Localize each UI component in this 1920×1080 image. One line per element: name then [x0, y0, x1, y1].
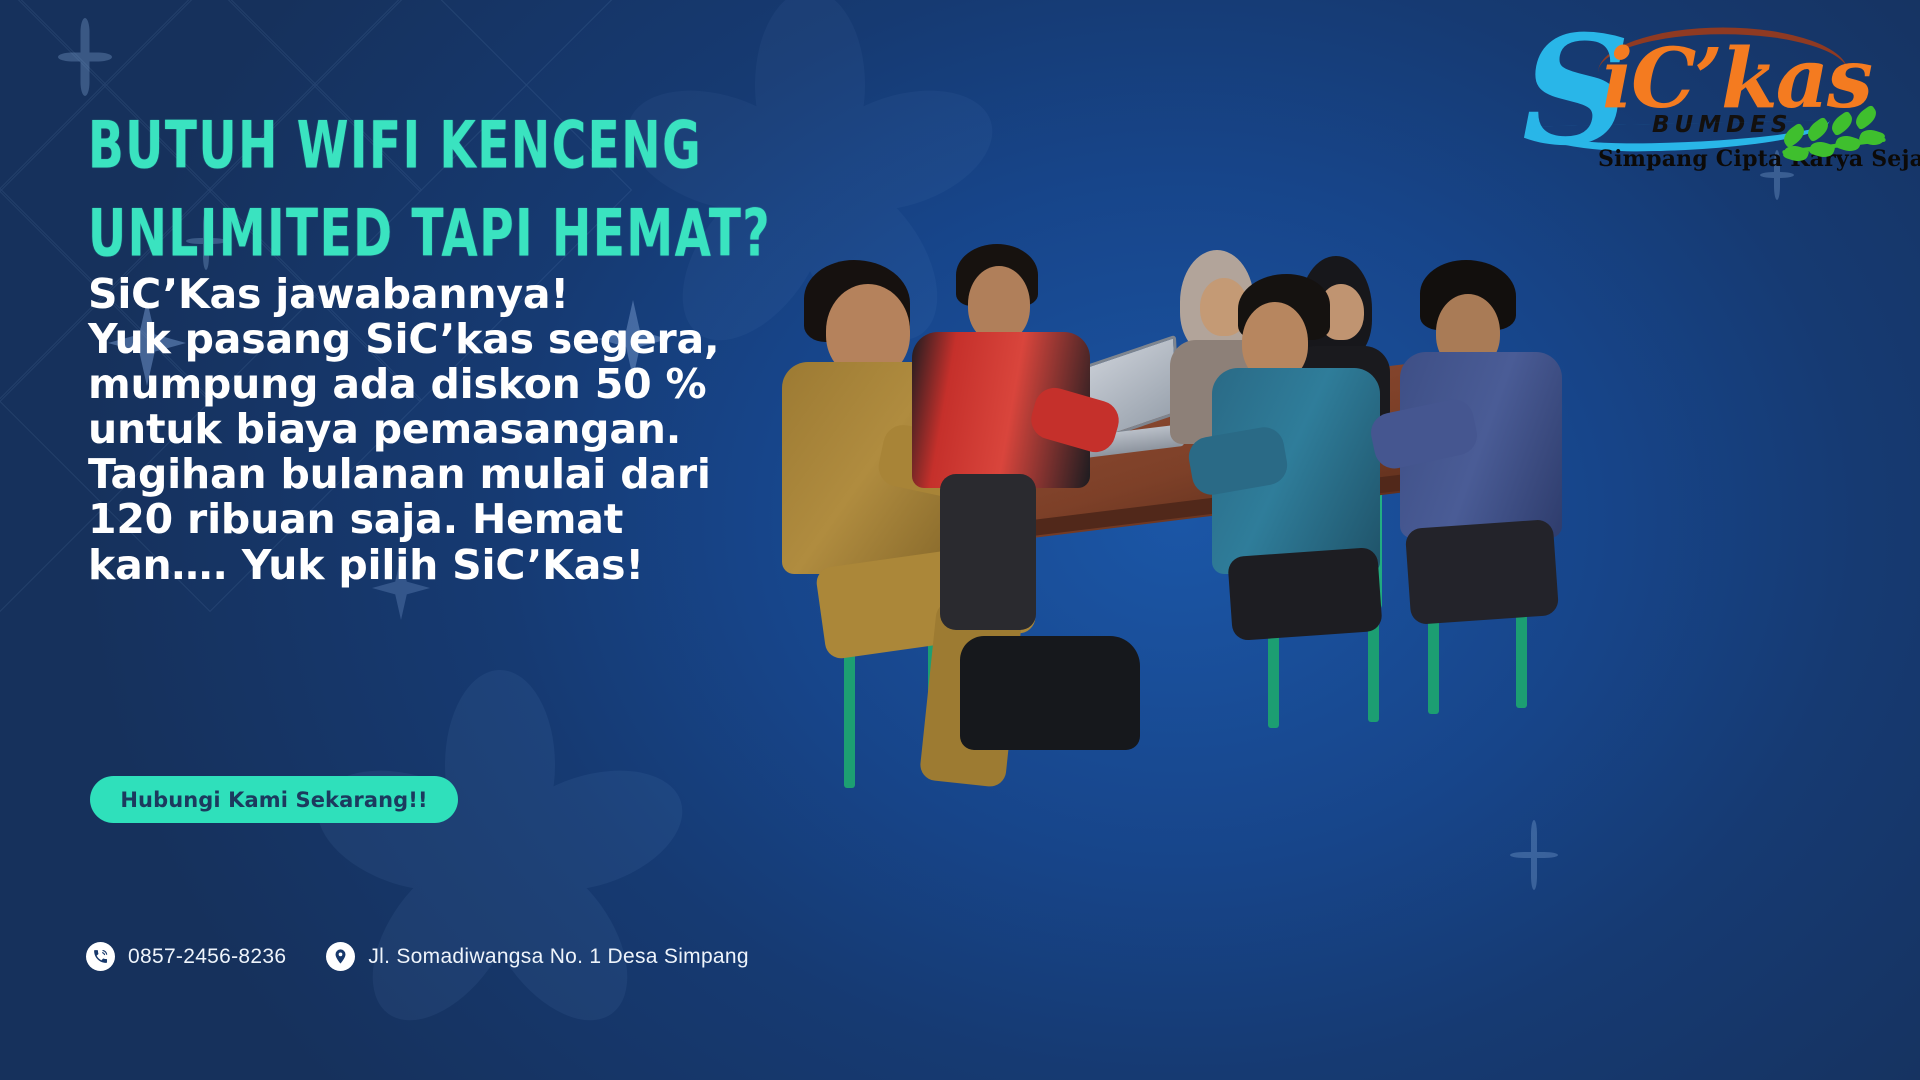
phone-number: 0857-2456-8236 — [128, 945, 286, 969]
person — [1227, 547, 1382, 641]
brand-logo[interactable]: S iC’kas BUMDES Simpang Cipta Karya Seja… — [1524, 16, 1884, 186]
chair — [1516, 602, 1527, 708]
contact-phone[interactable]: 0857-2456-8236 — [86, 942, 286, 971]
flower-motif-left — [330, 690, 670, 1030]
body-line: kan…. Yuk pilih SiC’Kas! — [88, 543, 808, 588]
contact-address[interactable]: Jl. Somadiwangsa No. 1 Desa Simpang — [326, 942, 749, 971]
body-line: Yuk pasang SiC’kas segera, — [88, 317, 808, 362]
promo-banner: BUTUH WIFI KENCENG UNLIMITED TAPI HEMAT?… — [0, 0, 1920, 1080]
wheat-icon — [1778, 104, 1888, 164]
contact-us-button[interactable]: Hubungi Kami Sekarang!! — [90, 776, 458, 823]
backpack — [960, 636, 1140, 750]
body-line: Tagihan bulanan mulai dari — [88, 452, 808, 497]
body-line: 120 ribuan saja. Hemat — [88, 497, 808, 542]
sparkle-icon — [1510, 820, 1558, 890]
body-line: mumpung ada diskon 50 % — [88, 362, 808, 407]
headline-line-2: UNLIMITED TAPI HEMAT? — [88, 200, 863, 265]
person — [940, 474, 1036, 630]
body-copy: SiC’Kas jawabannya! Yuk pasang SiC’kas s… — [88, 272, 808, 588]
person — [1405, 519, 1559, 625]
contact-bar: 0857-2456-8236 Jl. Somadiwangsa No. 1 De… — [86, 942, 749, 971]
body-line: SiC’Kas jawabannya! — [88, 272, 808, 317]
address-text: Jl. Somadiwangsa No. 1 Desa Simpang — [368, 945, 749, 969]
headline: BUTUH WIFI KENCENG UNLIMITED TAPI HEMAT? — [88, 112, 848, 288]
body-line: untuk biaya pemasangan. — [88, 407, 808, 452]
person — [968, 266, 1030, 342]
sparkle-icon — [58, 18, 112, 96]
headline-line-1: BUTUH WIFI KENCENG — [88, 112, 863, 177]
meeting-photo — [760, 236, 1600, 766]
phone-icon — [86, 942, 115, 971]
location-pin-icon — [326, 942, 355, 971]
